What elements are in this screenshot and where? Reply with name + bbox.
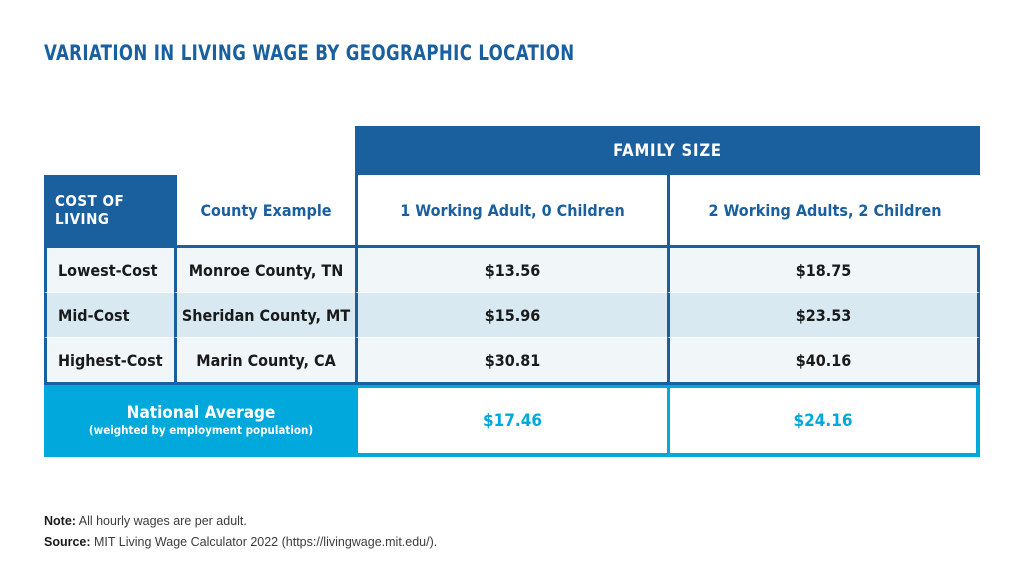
national-average-one-adult: $17.46 [355, 385, 667, 457]
footnote-note-label: Note: [44, 514, 76, 528]
national-average-two-adults: $24.16 [667, 385, 980, 457]
cell-county: Marin County, CA [174, 338, 355, 385]
footnote-source-label: Source: [44, 535, 91, 549]
column-header-two-adults: 2 Working Adults, 2 Children [667, 175, 980, 248]
footnotes: Note: All hourly wages are per adult. So… [44, 511, 437, 553]
national-average-title: National Average [53, 403, 349, 423]
cell-one-adult-wage: $15.96 [355, 293, 667, 338]
footnote-source: Source: MIT Living Wage Calculator 2022 … [44, 532, 437, 553]
table-row: Mid-Cost Sheridan County, MT $15.96 $23.… [44, 293, 980, 338]
cell-two-adults-wage: $18.75 [667, 248, 980, 293]
cell-one-adult-wage: $13.56 [355, 248, 667, 293]
footnote-source-text: MIT Living Wage Calculator 2022 (https:/… [91, 535, 438, 549]
table-footer-row-national-average: National Average (weighted by employment… [44, 385, 980, 457]
header-row-group: FAMILY SIZE [44, 126, 980, 175]
cell-county: Monroe County, TN [174, 248, 355, 293]
cell-cost-level: Lowest-Cost [44, 248, 174, 293]
cell-one-adult-wage: $30.81 [355, 338, 667, 385]
living-wage-table: FAMILY SIZE COST OF LIVING County Exampl… [44, 126, 980, 457]
cell-two-adults-wage: $40.16 [667, 338, 980, 385]
cell-cost-level: Mid-Cost [44, 293, 174, 338]
cell-cost-level: Highest-Cost [44, 338, 174, 385]
table-header: FAMILY SIZE COST OF LIVING County Exampl… [44, 126, 980, 248]
table-row: Highest-Cost Marin County, CA $30.81 $40… [44, 338, 980, 385]
living-wage-table-wrapper: FAMILY SIZE COST OF LIVING County Exampl… [44, 126, 980, 457]
national-average-subtitle: (weighted by employment population) [53, 423, 349, 438]
column-header-cost-of-living: COST OF LIVING [44, 175, 174, 248]
column-group-header-family-size: FAMILY SIZE [355, 126, 980, 175]
header-blank-corner-2 [174, 126, 355, 175]
column-header-one-adult: 1 Working Adult, 0 Children [355, 175, 667, 248]
national-average-label-cell: National Average (weighted by employment… [44, 385, 355, 457]
footnote-note-text: All hourly wages are per adult. [76, 514, 247, 528]
header-row-columns: COST OF LIVING County Example 1 Working … [44, 175, 980, 248]
table-body: Lowest-Cost Monroe County, TN $13.56 $18… [44, 248, 980, 457]
page-title: VARIATION IN LIVING WAGE BY GEOGRAPHIC L… [44, 41, 574, 65]
column-header-county-example: County Example [174, 175, 355, 248]
cell-two-adults-wage: $23.53 [667, 293, 980, 338]
header-blank-corner [44, 126, 174, 175]
footnote-note: Note: All hourly wages are per adult. [44, 511, 437, 532]
cell-county: Sheridan County, MT [174, 293, 355, 338]
table-row: Lowest-Cost Monroe County, TN $13.56 $18… [44, 248, 980, 293]
